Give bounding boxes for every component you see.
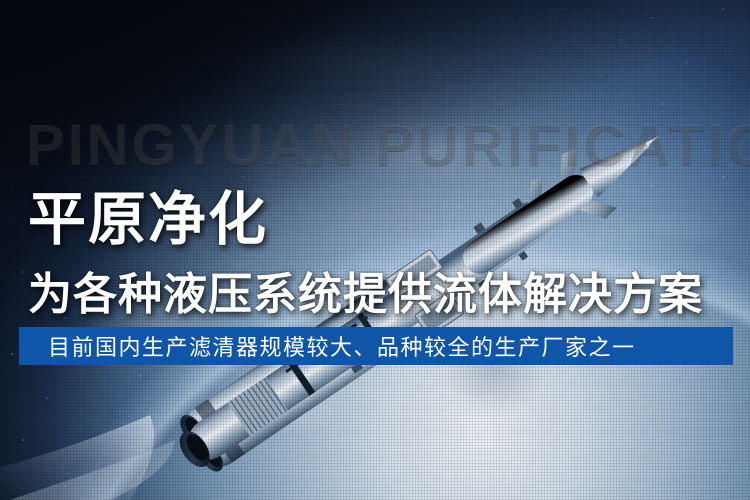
tagline-text: 目前国内生产滤清器规模较大、品种较全的生产厂家之一: [19, 330, 636, 362]
watermark-pinyin-text: PINGYUAN PURIFICATION: [26, 112, 750, 179]
company-title: 平原净化: [28, 172, 268, 256]
tagline-bar: 目前国内生产滤清器规模较大、品种较全的生产厂家之一: [19, 327, 733, 365]
hero-banner: PINGYUAN PURIFICATION 平原净化 为各种液压系统提供流体解决…: [0, 0, 750, 500]
banner-subtitle: 为各种液压系统提供流体解决方案: [28, 258, 703, 322]
